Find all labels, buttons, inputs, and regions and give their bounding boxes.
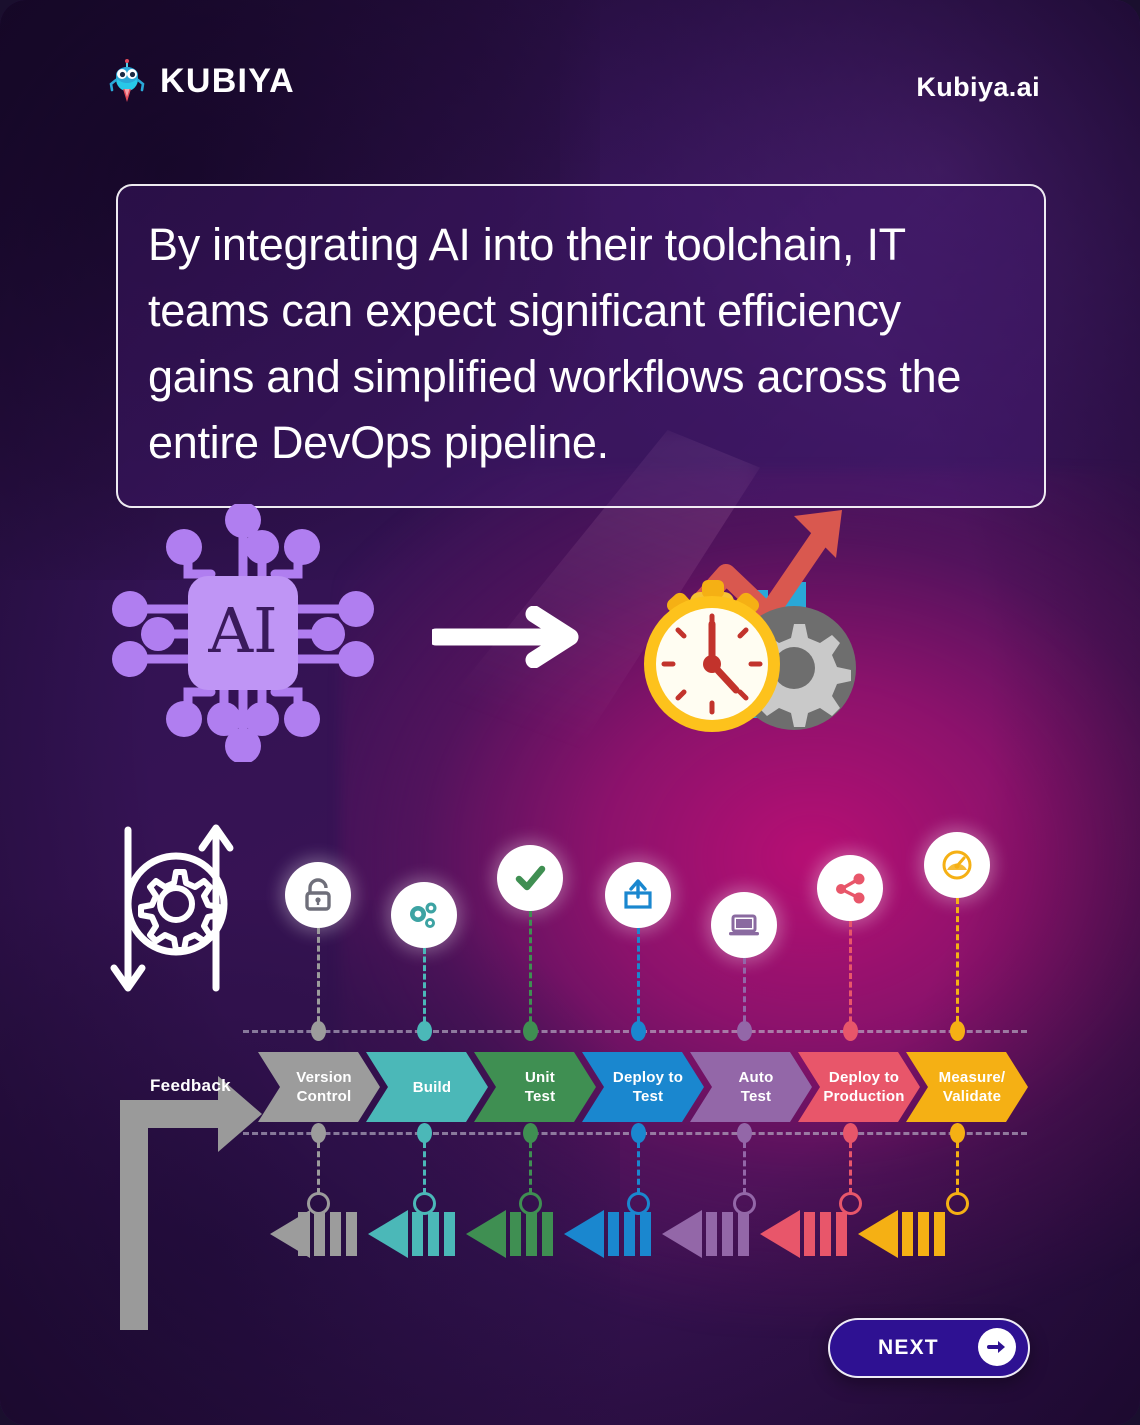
pipeline-stem-top-3 — [529, 911, 532, 1031]
pipeline-stage-icon-6[interactable] — [817, 855, 883, 921]
devops-pipeline-diagram: VersionControl Build UnitTest Deploy toT… — [0, 800, 1140, 1300]
pipeline-stage-label-4: Deploy toTest — [603, 1068, 683, 1106]
pipeline-flow-arrow-7 — [856, 1208, 952, 1260]
pipeline-flow-arrow-3 — [464, 1208, 560, 1260]
pipeline-node-top-2 — [417, 1021, 432, 1041]
check-icon — [510, 858, 550, 898]
pipeline-stage-chevron-4[interactable]: Deploy toTest — [582, 1052, 704, 1122]
pipeline-stem-bottom-4 — [637, 1142, 640, 1194]
pipeline-flow-arrow-6 — [758, 1208, 854, 1260]
pipeline-node-top-5 — [737, 1021, 752, 1041]
pipeline-node-bottom-4 — [631, 1123, 646, 1143]
pipeline-node-bottom-3 — [523, 1123, 538, 1143]
pipeline-node-top-7 — [950, 1021, 965, 1041]
pipeline-node-bottom-7 — [950, 1123, 965, 1143]
pipeline-stage-chevron-7[interactable]: Measure/Validate — [906, 1052, 1028, 1122]
feedback-label: Feedback — [150, 1076, 231, 1096]
pipeline-stage-chevron-2[interactable]: Build — [366, 1052, 488, 1122]
pipeline-stage-icon-2[interactable] — [391, 882, 457, 948]
continuous-cycle-gear-icon — [104, 812, 254, 1002]
pipeline-flow-arrow-5 — [660, 1208, 756, 1260]
brand-logo-text: KUBIYA — [160, 58, 295, 104]
laptop-icon — [724, 905, 764, 945]
speed-efficiency-icon-group — [618, 498, 874, 746]
pipeline-stage-icon-4[interactable] — [605, 862, 671, 928]
quote-card: By integrating AI into their toolchain, … — [116, 184, 1046, 508]
pipeline-stem-top-7 — [956, 898, 959, 1031]
ai-microchip-icon: AI — [112, 504, 374, 762]
pipeline-node-bottom-5 — [737, 1123, 752, 1143]
pipeline-stage-chevron-3[interactable]: UnitTest — [474, 1052, 596, 1122]
pipeline-node-top-1 — [311, 1021, 326, 1041]
gauge-icon — [937, 845, 977, 885]
pipeline-node-top-3 — [523, 1021, 538, 1041]
pipeline-node-bottom-1 — [311, 1123, 326, 1143]
pipeline-stem-bottom-3 — [529, 1142, 532, 1194]
arrow-right-circle-icon — [978, 1328, 1016, 1366]
lock-icon — [298, 875, 338, 915]
pipeline-stage-icon-1[interactable] — [285, 862, 351, 928]
pipeline-node-top-4 — [631, 1021, 646, 1041]
upload-box-icon — [618, 875, 658, 915]
pipeline-stage-label-1: VersionControl — [286, 1068, 352, 1106]
header: KUBIYA Kubiya.ai — [0, 58, 1140, 122]
pipeline-stage-label-3: UnitTest — [515, 1068, 556, 1106]
kubiya-robot-rocket-icon — [108, 58, 146, 104]
pipeline-stem-bottom-7 — [956, 1142, 959, 1194]
svg-text:AI: AI — [207, 594, 277, 667]
right-arrow-icon — [432, 606, 582, 668]
pipeline-flow-arrow-2 — [366, 1208, 462, 1260]
pipeline-stage-chevron-1[interactable]: VersionControl — [258, 1052, 380, 1122]
next-button[interactable]: NEXT — [828, 1318, 1030, 1378]
gears-icon — [404, 895, 444, 935]
pipeline-node-bottom-2 — [417, 1123, 432, 1143]
feedback-loop: Feedback — [110, 1040, 270, 1335]
pipeline-stage-label-2: Build — [403, 1078, 452, 1097]
pipeline-stage-label-5: AutoTest — [729, 1068, 774, 1106]
pipeline-stage-chevron-5[interactable]: AutoTest — [690, 1052, 812, 1122]
pipeline-stem-top-1 — [317, 928, 320, 1031]
pipeline-stage-label-6: Deploy toProduction — [813, 1068, 904, 1106]
pipeline-node-top-6 — [843, 1021, 858, 1041]
pipeline-stem-bottom-5 — [743, 1142, 746, 1194]
pipeline-stem-bottom-1 — [317, 1142, 320, 1194]
pipeline-stage-icon-3[interactable] — [497, 845, 563, 911]
pipeline-stem-top-6 — [849, 921, 852, 1031]
hero-illustration: AI — [0, 498, 1140, 768]
next-button-label: NEXT — [878, 1336, 939, 1360]
pipeline-stage-icon-7[interactable] — [924, 832, 990, 898]
pipeline-stage-label-7: Measure/Validate — [929, 1068, 1006, 1106]
share-network-icon — [830, 868, 870, 908]
pipeline-node-bottom-6 — [843, 1123, 858, 1143]
brand-right-text: Kubiya.ai — [916, 72, 1040, 103]
brand-logo[interactable]: KUBIYA — [108, 58, 295, 104]
pipeline-stem-bottom-2 — [423, 1142, 426, 1194]
slide-canvas: KUBIYA Kubiya.ai By integrating AI into … — [0, 0, 1140, 1425]
pipeline-stem-bottom-6 — [849, 1142, 852, 1194]
pipeline-stage-icon-5[interactable] — [711, 892, 777, 958]
pipeline-stage-chevron-6[interactable]: Deploy toProduction — [798, 1052, 920, 1122]
quote-text: By integrating AI into their toolchain, … — [148, 212, 1014, 476]
pipeline-stem-top-2 — [423, 948, 426, 1031]
pipeline-flow-arrow-4 — [562, 1208, 658, 1260]
pipeline-stem-top-4 — [637, 928, 640, 1031]
pipeline-flow-arrow-1 — [268, 1208, 364, 1260]
